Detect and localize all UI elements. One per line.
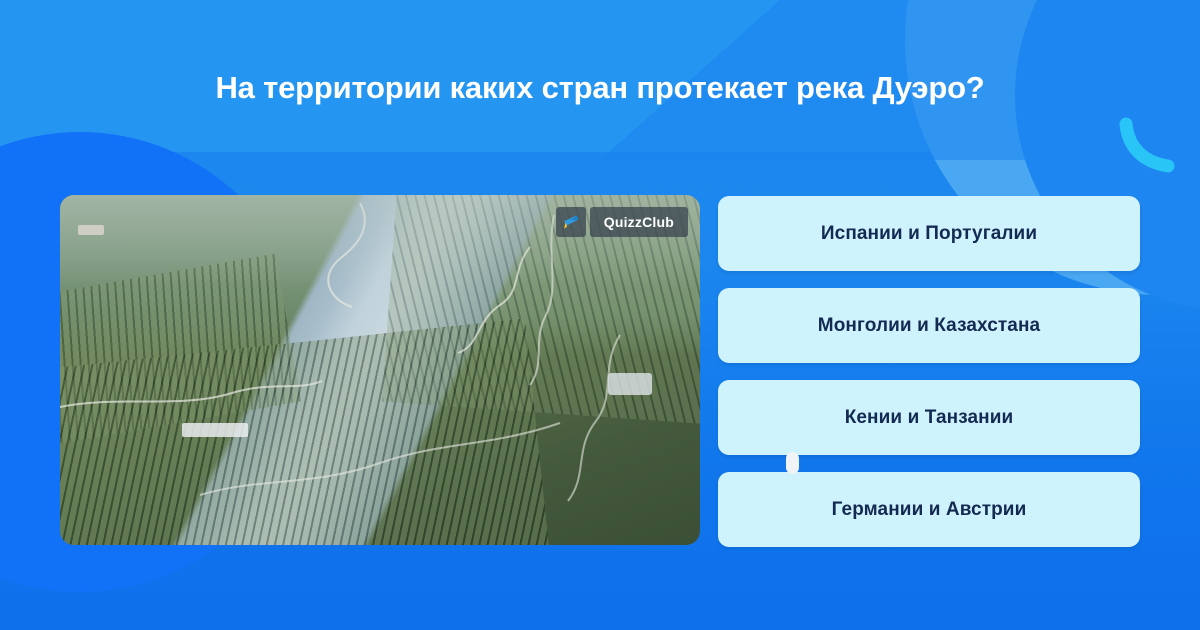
photo-haze-overlay	[60, 195, 700, 545]
answer-option-2-label: Монголии и Казахстана	[818, 315, 1040, 337]
answer-option-3-label: Кении и Танзании	[845, 407, 1014, 429]
question-image: QuizzClub	[60, 195, 700, 545]
answer-options-list: Испании и Португалии Монголии и Казахста…	[718, 196, 1140, 547]
quiz-share-card: На территории каких стран протекает река…	[0, 0, 1200, 630]
answer-option-4[interactable]: Германии и Австрии	[718, 472, 1140, 547]
answer-option-1[interactable]: Испании и Португалии	[718, 196, 1140, 271]
watermark-brand: QuizzClub	[590, 207, 688, 237]
answer-option-4-label: Германии и Австрии	[832, 499, 1027, 521]
answer-option-2[interactable]: Монголии и Казахстана	[718, 288, 1140, 363]
watermark-badge: QuizzClub	[556, 207, 688, 237]
page-title: На территории каких стран протекает река…	[0, 68, 1200, 108]
graduation-cap-icon	[556, 207, 586, 237]
scroll-handle[interactable]	[786, 452, 799, 474]
answer-option-1-label: Испании и Португалии	[821, 223, 1037, 245]
answer-option-3[interactable]: Кении и Танзании	[718, 380, 1140, 455]
swoosh-arc-icon	[1118, 116, 1182, 180]
